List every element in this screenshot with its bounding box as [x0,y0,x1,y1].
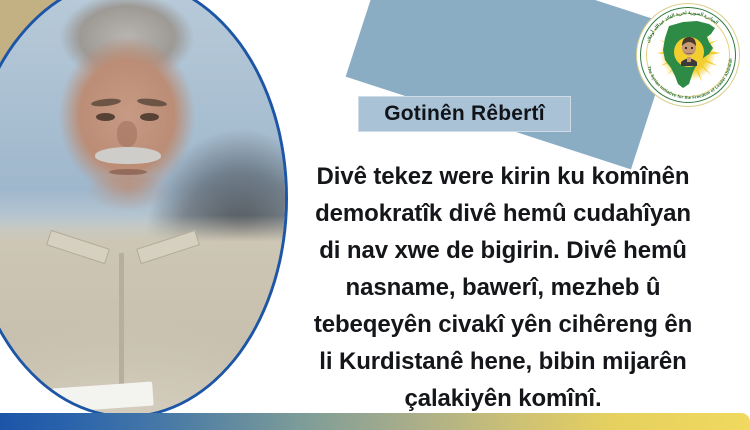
portrait-mouth [109,169,147,175]
portrait-collar-left [46,230,110,264]
quote-line: çalakiyên komînî. [266,380,740,417]
organisation-logo-icon: The Syrian Initiative for the Freedom of… [636,3,740,107]
portrait-nose [117,121,137,147]
quote-line: li Kurdistanê hene, bibin mijarên [266,343,740,380]
quote-line: demokratîk divê hemû cudahîyan [266,195,740,232]
portrait-oval [0,0,288,418]
portrait-paper-sheet [52,382,153,413]
quote-line: Divê tekez were kirin ku komînên [266,158,740,195]
quote-line: nasname, bawerî, mezheb û [266,269,740,306]
portrait-eye-left [96,113,115,121]
logo-leader-portrait-icon [681,37,697,66]
quote-line: di nav xwe de bigirin. Divê hemû [266,232,740,269]
portrait-photo [0,0,285,415]
portrait-chin [87,177,169,211]
logo-artwork: The Syrian Initiative for the Freedom of… [637,4,741,108]
portrait-mustache [95,147,161,164]
quote-poster: The Syrian Initiative for the Freedom of… [0,0,750,430]
portrait-collar-right [136,230,200,264]
quote-heading-box: Gotinên Rêbertî [358,96,571,132]
portrait-eyebrow-right [137,97,168,108]
portrait-eyebrow-left [91,97,122,107]
footer-gradient-bar [0,413,750,430]
quote-heading-label: Gotinên Rêbertî [384,102,545,126]
diagonal-blue-band-decoration [346,0,678,169]
portrait-shirt-placket [119,253,124,393]
portrait-eye-right [140,113,159,121]
quote-text-block: Divê tekez were kirin ku komînên demokra… [266,158,740,417]
quote-line: tebeqeyên civakî yên cihêreng ên [266,306,740,343]
